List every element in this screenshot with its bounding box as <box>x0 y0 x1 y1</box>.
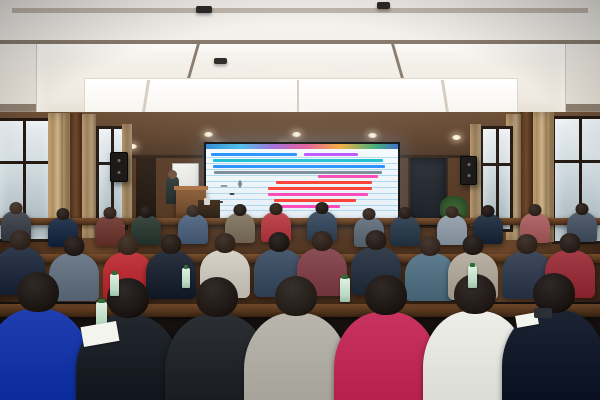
person-head <box>420 236 441 256</box>
water-bottle <box>182 268 190 288</box>
person-head <box>269 232 290 252</box>
conference-hall-photo <box>0 0 600 400</box>
person-head <box>463 235 484 255</box>
person-head <box>560 233 581 253</box>
person-head <box>399 207 412 219</box>
person-head <box>365 275 407 315</box>
person-head <box>269 203 282 215</box>
ceiling-projector-icon <box>214 58 227 64</box>
projector-mount-icon <box>377 2 390 9</box>
screen-text-line <box>213 165 385 168</box>
screen-text-line <box>276 181 372 184</box>
audience-person <box>502 273 600 400</box>
projector-icon <box>196 6 212 13</box>
person-torso <box>244 313 348 400</box>
person-head <box>575 203 588 215</box>
person-head <box>215 233 236 253</box>
person-head <box>104 207 117 219</box>
person-head <box>118 235 139 255</box>
speaker-driver-icon <box>467 163 470 166</box>
person-head <box>316 202 329 214</box>
person-head <box>363 208 376 220</box>
person-head <box>481 205 494 217</box>
water-bottle <box>110 274 119 296</box>
speaker-driver-icon <box>118 171 121 174</box>
person-head <box>446 206 459 218</box>
downlight-icon <box>292 132 301 137</box>
screen-text-line <box>213 159 383 162</box>
screen-text-line <box>268 187 372 190</box>
person-head <box>64 236 85 256</box>
person-head <box>528 204 541 216</box>
presenter-head <box>168 170 177 179</box>
person-head <box>233 204 246 216</box>
speaker-driver-icon <box>118 159 121 162</box>
person-torso <box>334 312 438 400</box>
water-bottle <box>468 266 477 288</box>
person-head <box>161 234 182 254</box>
downlight-icon <box>368 133 377 138</box>
ceiling-rail <box>12 8 588 13</box>
seated-audience <box>0 196 600 400</box>
person-head <box>366 230 387 250</box>
wall-speaker-right <box>460 156 477 185</box>
person-head <box>57 208 70 220</box>
wall-speaker-left <box>110 152 128 182</box>
ceiling <box>0 0 600 120</box>
water-bottle <box>340 278 350 302</box>
person-head <box>196 277 238 317</box>
speaker-driver-icon <box>467 174 470 177</box>
person-head <box>533 273 575 313</box>
screen-text-line <box>211 153 297 156</box>
screen-header-banner <box>206 144 398 149</box>
person-head <box>517 234 538 254</box>
person-head <box>275 276 317 316</box>
person-head <box>186 205 199 217</box>
mobile-phone <box>534 308 552 318</box>
screen-text-line <box>318 175 378 178</box>
bench-row-back <box>0 218 600 225</box>
podium-top <box>174 186 208 190</box>
downlight-icon <box>204 132 213 137</box>
downlight-icon <box>452 135 461 140</box>
person-head <box>10 202 23 214</box>
person-head <box>17 272 59 312</box>
audience-person <box>244 276 348 400</box>
person-head <box>10 230 31 250</box>
screen-text-line <box>304 153 358 156</box>
person-head <box>140 206 153 218</box>
ceiling-beam-horizontal <box>0 40 600 44</box>
person-head <box>312 231 333 251</box>
